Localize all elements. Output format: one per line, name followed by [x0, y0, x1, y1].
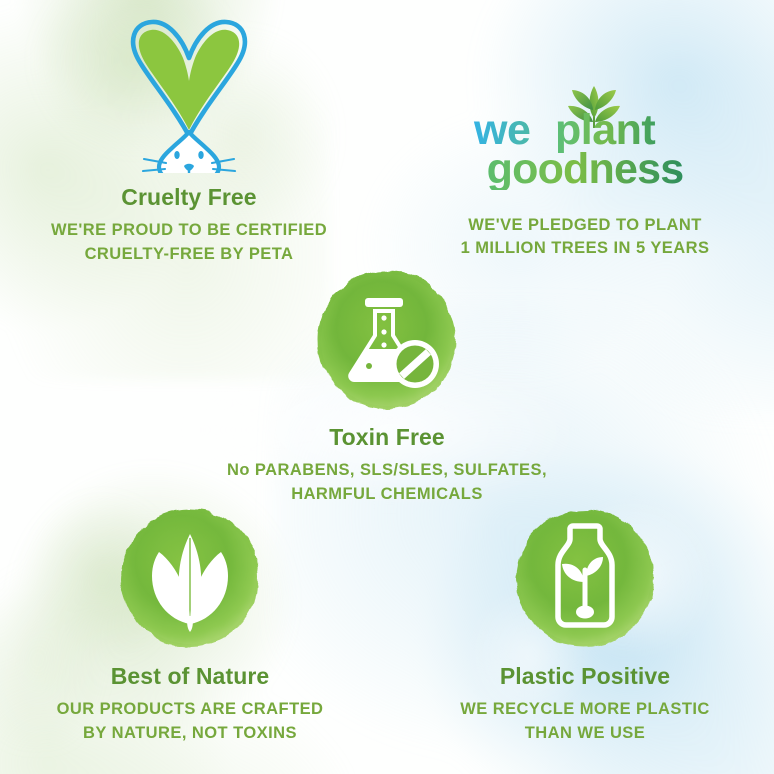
badge-title: Toxin Free	[198, 424, 576, 450]
badge-subtitle-line: WE'RE PROUD TO BE CERTIFIED	[0, 219, 378, 242]
badge-subtitle: WE RECYCLE MORE PLASTIC THAN WE USE	[400, 698, 770, 745]
badge-cruelty-free: Cruelty Free WE'RE PROUD TO BE CERTIFIED…	[0, 18, 378, 266]
badge-subtitle: WE'RE PROUD TO BE CERTIFIED CRUELTY-FREE…	[0, 219, 378, 266]
badge-subtitle: WE'VE PLEDGED TO PLANT 1 MILLION TREES I…	[396, 214, 774, 261]
badge-title: Plastic Positive	[400, 663, 770, 689]
badge-we-plant-goodness: we plant goodness WE'VE PLEDGED TO PLANT…	[396, 82, 774, 261]
peta-bunny-heart-icon	[104, 18, 274, 173]
badge-subtitle-line: OUR PRODUCTS ARE CRAFTED	[10, 698, 370, 721]
logo-word-goodness: goodness	[487, 145, 684, 190]
flask-no-entry-icon	[313, 266, 461, 414]
badge-subtitle: No PARABENS, SLS/SLES, SULFATES, HARMFUL…	[198, 459, 576, 506]
benefits-poster: Cruelty Free WE'RE PROUD TO BE CERTIFIED…	[0, 0, 774, 774]
badge-subtitle-line: THAN WE USE	[400, 722, 770, 745]
badge-plastic-positive: Plastic Positive WE RECYCLE MORE PLASTIC…	[400, 504, 770, 745]
badge-subtitle-line: HARMFUL CHEMICALS	[198, 483, 576, 506]
badge-subtitle-line: WE RECYCLE MORE PLASTIC	[400, 698, 770, 721]
we-plant-goodness-logo: we plant goodness	[460, 82, 710, 190]
badge-title: Cruelty Free	[0, 184, 378, 210]
badge-subtitle-line: 1 MILLION TREES IN 5 YEARS	[396, 237, 774, 260]
badge-best-of-nature: Best of Nature OUR PRODUCTS ARE CRAFTED …	[10, 504, 370, 745]
three-leaves-icon	[116, 504, 264, 652]
badge-subtitle-line: CRUELTY-FREE BY PETA	[0, 243, 378, 266]
badge-subtitle-line: BY NATURE, NOT TOXINS	[10, 722, 370, 745]
badge-toxin-free: Toxin Free No PARABENS, SLS/SLES, SULFAT…	[198, 266, 576, 506]
badge-title: Best of Nature	[10, 663, 370, 689]
bottle-sprout-icon	[511, 504, 659, 652]
badge-subtitle-line: No PARABENS, SLS/SLES, SULFATES,	[198, 459, 576, 482]
badge-subtitle-line: WE'VE PLEDGED TO PLANT	[396, 214, 774, 237]
badge-subtitle: OUR PRODUCTS ARE CRAFTED BY NATURE, NOT …	[10, 698, 370, 745]
